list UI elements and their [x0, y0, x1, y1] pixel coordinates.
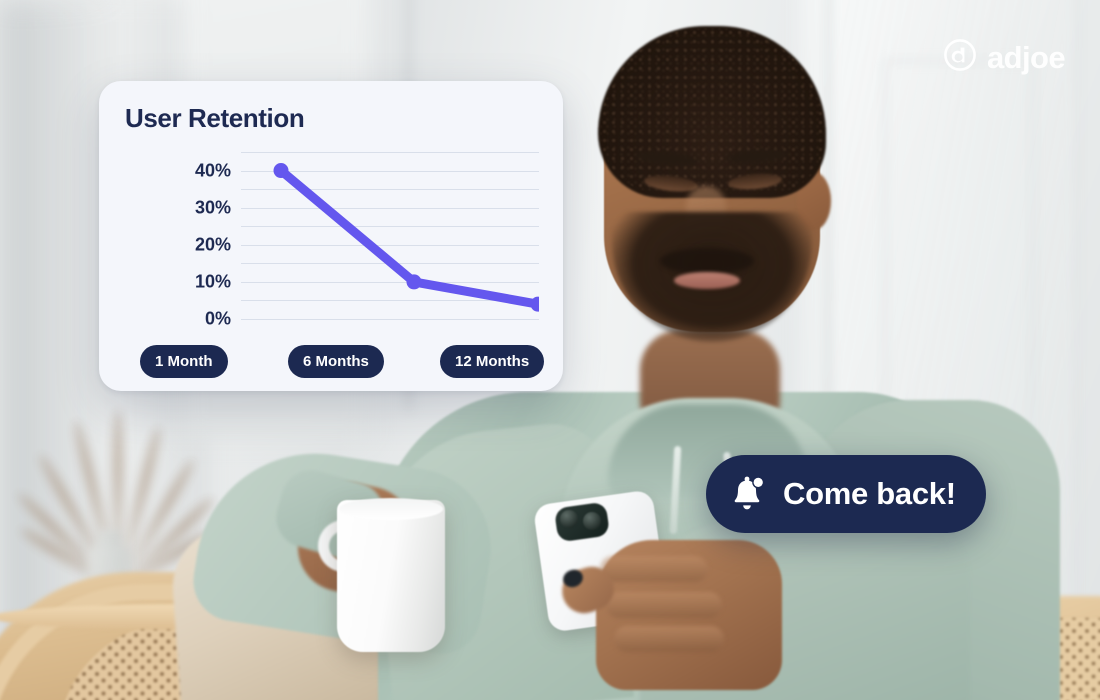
person-lips	[674, 272, 740, 289]
y-axis-tick-label: 40%	[153, 160, 231, 181]
coffee-mug	[337, 500, 445, 652]
pill-6-months[interactable]: 6 Months	[288, 345, 384, 378]
y-axis-tick-label: 0%	[153, 309, 231, 330]
finger-3	[614, 626, 724, 652]
bell-icon	[730, 474, 766, 514]
phone-camera-lens-bottom	[583, 512, 601, 530]
y-axis-tick-label: 30%	[153, 197, 231, 218]
data-point-1[interactable]	[407, 274, 422, 289]
y-axis-tick-label: 10%	[153, 271, 231, 292]
page-title: User Retention	[125, 103, 304, 134]
person-mustache	[660, 248, 754, 274]
come-back-label: Come back!	[783, 476, 956, 512]
data-point-0[interactable]	[274, 163, 289, 178]
user-retention-card: User Retention 40%30%20%10%0% 1 Month 6 …	[99, 81, 563, 391]
adjoe-wordmark: adjoe	[987, 40, 1065, 76]
come-back-notification-badge[interactable]: Come back!	[706, 455, 986, 533]
pill-12-months[interactable]: 12 Months	[440, 345, 544, 378]
finger-1	[600, 556, 708, 582]
y-axis-tick-label: 20%	[153, 234, 231, 255]
adjoe-circle-a-icon	[943, 38, 977, 77]
mug-rim	[339, 498, 443, 520]
finger-2	[606, 592, 722, 618]
phone-camera-lens-top	[560, 510, 578, 528]
pill-1-month[interactable]: 1 Month	[140, 345, 228, 378]
time-range-pill-group: 1 Month 6 Months 12 Months	[99, 345, 563, 391]
adjoe-logo: adjoe	[943, 38, 1065, 77]
